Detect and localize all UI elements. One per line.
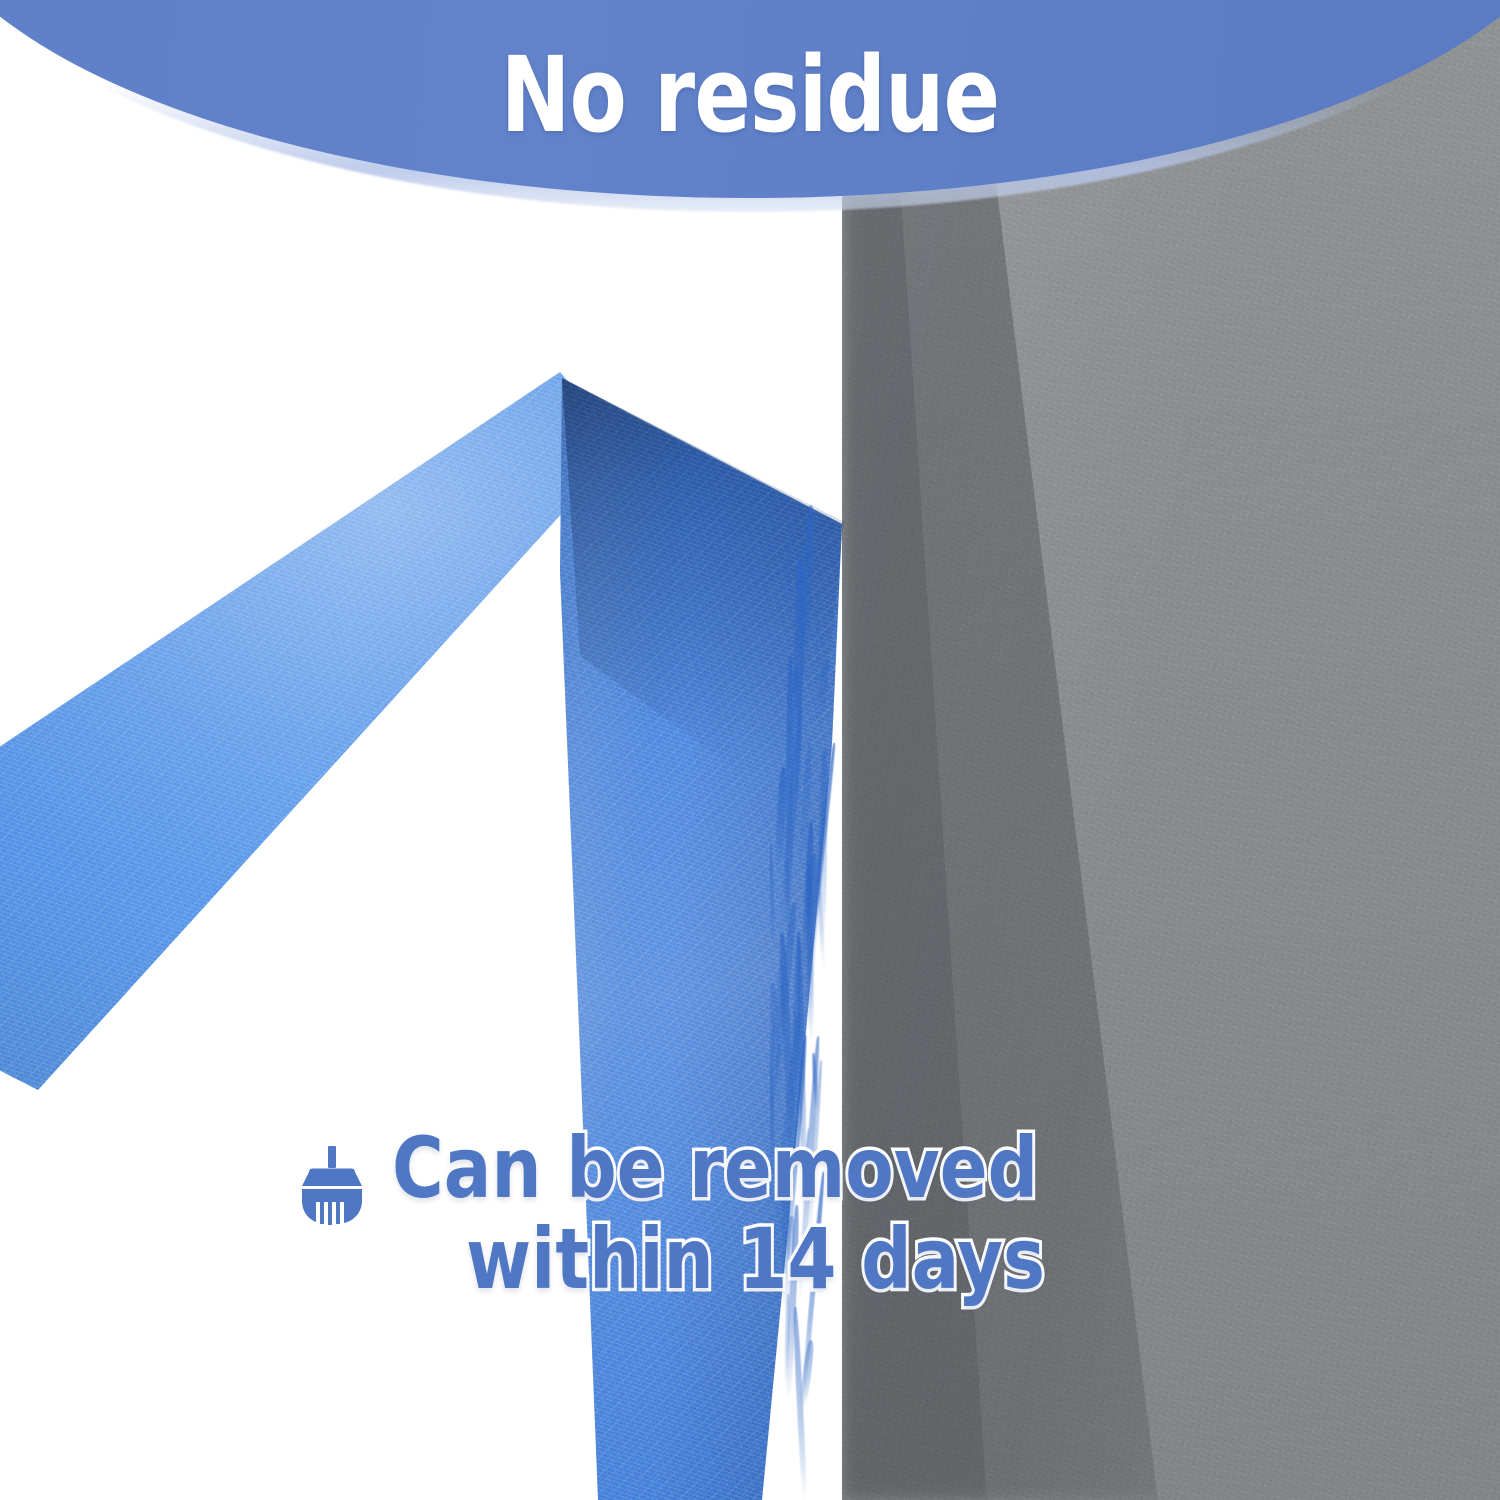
product-feature-image: No residue Can be removed within 14 days (0, 0, 1500, 1500)
paint-brush-edge (770, 500, 920, 1500)
tape-fold-crease (540, 348, 870, 558)
promo-text: Can be removed within 14 days (392, 1128, 1161, 1299)
promo-line-1: Can be removed (392, 1128, 1038, 1209)
broom-icon (296, 1146, 368, 1226)
promo-line-2: within 14 days (466, 1219, 1050, 1300)
paint-bristle-streak (785, 656, 794, 923)
paint-bristle-streak (818, 748, 829, 953)
tape-crease-highlight (555, 370, 823, 512)
promo-claim: Can be removed within 14 days (296, 1128, 1176, 1299)
page-title: No residue (150, 0, 1350, 190)
